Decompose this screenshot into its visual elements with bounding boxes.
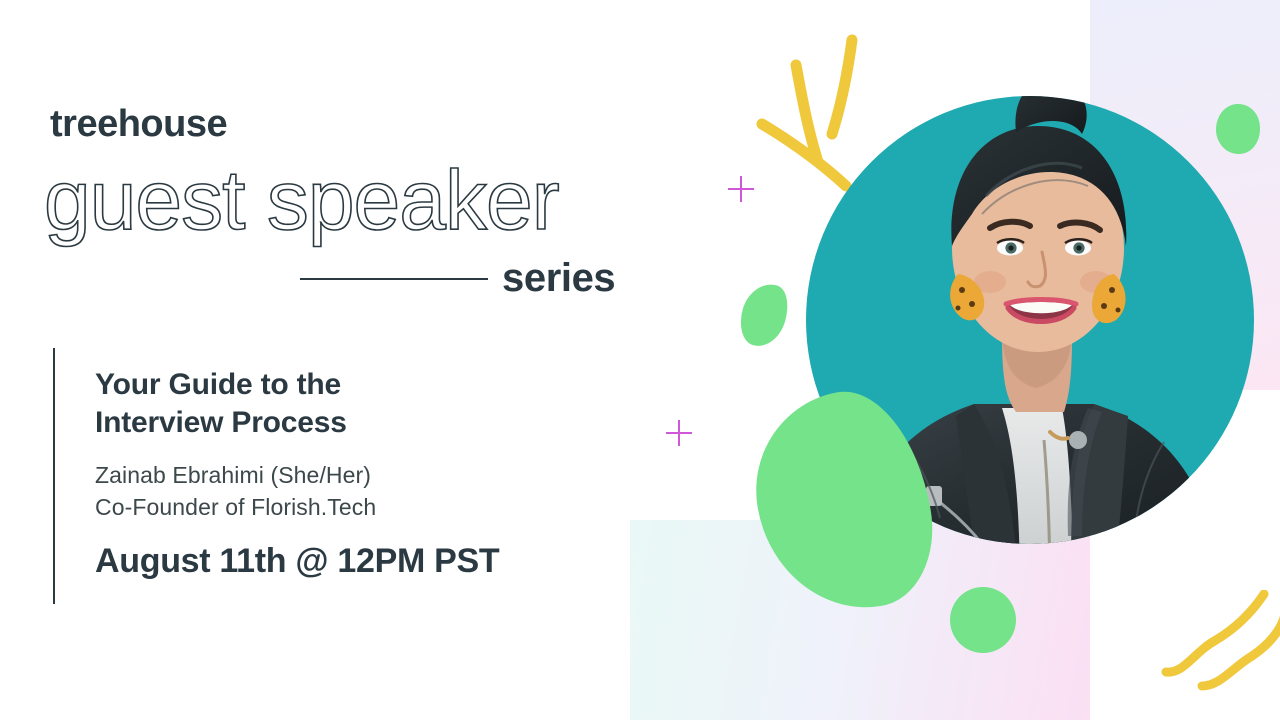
page-title: guest speaker <box>44 158 559 242</box>
session-datetime: August 11th @ 12PM PST <box>95 542 499 581</box>
green-dot-bottom-shape <box>950 587 1016 653</box>
series-label: series <box>502 256 615 301</box>
speaker-role: Co-Founder of Florish.Tech <box>95 491 499 524</box>
treehouse-wordmark: treehouse <box>50 105 227 143</box>
series-row: series <box>300 256 615 301</box>
promo-slide: treehouse guest speaker series Your Guid… <box>0 0 1280 720</box>
plus-mark-upper-icon <box>728 176 754 202</box>
session-title-line1: Your Guide to the <box>95 368 341 401</box>
session-title-line2: Interview Process <box>95 406 347 439</box>
speaker-name: Zainab Ebrahimi (She/Her) <box>95 459 499 492</box>
session-title: Your Guide to the Interview Process <box>95 366 499 443</box>
series-divider <box>300 278 488 280</box>
yellow-wave-icon <box>1160 590 1280 720</box>
session-info-block: Your Guide to the Interview Process Zain… <box>53 348 499 604</box>
green-bean-small-shape <box>734 278 794 352</box>
plus-mark-lower-icon <box>666 420 692 446</box>
